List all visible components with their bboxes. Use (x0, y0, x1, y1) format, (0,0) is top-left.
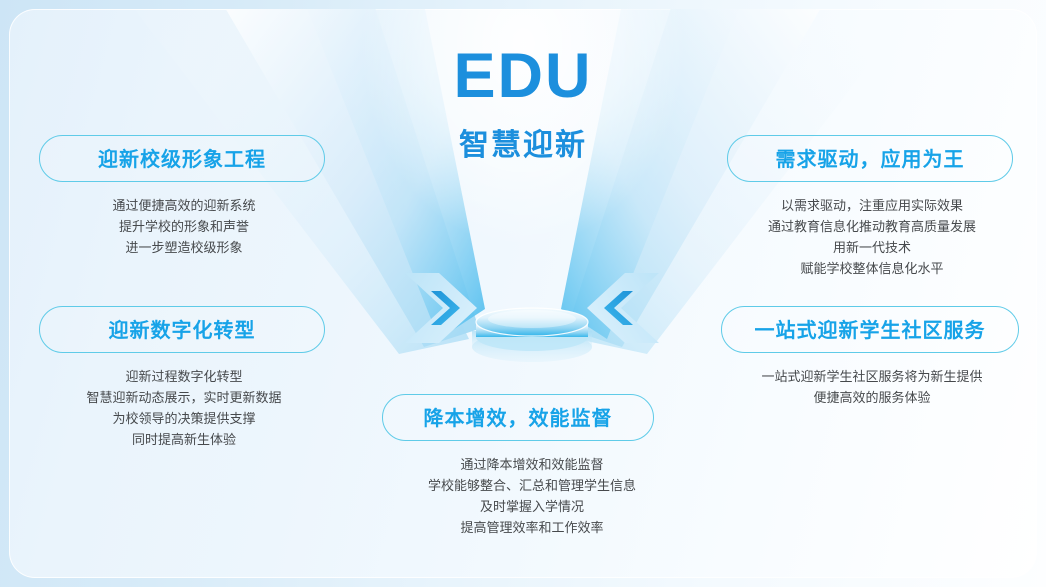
desc-demand-driven: 以需求驱动，注重应用实际效果 通过教育信息化推动教育高质量发展 用新一代技术 赋… (727, 195, 1017, 279)
desc-line: 为校领导的决策提供支撑 (39, 408, 329, 429)
pill-title-image-project[interactable]: 迎新校级形象工程 (39, 135, 325, 182)
desc-line: 便捷高效的服务体验 (721, 387, 1023, 408)
desc-line: 赋能学校整体信息化水平 (727, 258, 1017, 279)
block-digital-transform: 迎新数字化转型 迎新过程数字化转型 智慧迎新动态展示，实时更新数据 为校领导的决… (39, 306, 329, 450)
desc-line: 提高管理效率和工作效率 (382, 517, 682, 538)
desc-line: 以需求驱动，注重应用实际效果 (727, 195, 1017, 216)
desc-line: 智慧迎新动态展示，实时更新数据 (39, 387, 329, 408)
chevron-right-icon (405, 271, 479, 345)
desc-one-stop-service: 一站式迎新学生社区服务将为新生提供 便捷高效的服务体验 (721, 366, 1023, 408)
desc-cost-efficiency: 通过降本增效和效能监督 学校能够整合、汇总和管理学生信息 及时掌握入学情况 提高… (382, 454, 682, 538)
block-cost-efficiency: 降本增效，效能监督 通过降本增效和效能监督 学校能够整合、汇总和管理学生信息 及… (382, 394, 682, 538)
desc-image-project: 通过便捷高效的迎新系统 提升学校的形象和声誉 进一步塑造校级形象 (39, 195, 329, 258)
desc-line: 用新一代技术 (727, 237, 1017, 258)
infographic-frame: EDU 智慧迎新 (0, 0, 1046, 587)
desc-line: 及时掌握入学情况 (382, 496, 682, 517)
desc-line: 进一步塑造校级形象 (39, 237, 329, 258)
desc-line: 同时提高新生体验 (39, 429, 329, 450)
pill-title-digital-transform[interactable]: 迎新数字化转型 (39, 306, 325, 353)
desc-line: 一站式迎新学生社区服务将为新生提供 (721, 366, 1023, 387)
pill-title-demand-driven[interactable]: 需求驱动，应用为王 (727, 135, 1013, 182)
logo-title: EDU (9, 45, 1037, 108)
desc-line: 通过降本增效和效能监督 (382, 454, 682, 475)
pill-title-cost-efficiency[interactable]: 降本增效，效能监督 (382, 394, 654, 441)
infographic-card: EDU 智慧迎新 (9, 9, 1037, 578)
pill-title-one-stop-service[interactable]: 一站式迎新学生社区服务 (721, 306, 1019, 353)
desc-line: 通过便捷高效的迎新系统 (39, 195, 329, 216)
desc-line: 通过教育信息化推动教育高质量发展 (727, 216, 1017, 237)
glass-disc-platform (470, 305, 594, 367)
desc-line: 迎新过程数字化转型 (39, 366, 329, 387)
block-image-project: 迎新校级形象工程 通过便捷高效的迎新系统 提升学校的形象和声誉 进一步塑造校级形… (39, 135, 329, 258)
desc-line: 提升学校的形象和声誉 (39, 216, 329, 237)
desc-digital-transform: 迎新过程数字化转型 智慧迎新动态展示，实时更新数据 为校领导的决策提供支撑 同时… (39, 366, 329, 450)
chevron-left-icon (585, 271, 659, 345)
block-one-stop-service: 一站式迎新学生社区服务 一站式迎新学生社区服务将为新生提供 便捷高效的服务体验 (721, 306, 1023, 408)
desc-line: 学校能够整合、汇总和管理学生信息 (382, 475, 682, 496)
block-demand-driven: 需求驱动，应用为王 以需求驱动，注重应用实际效果 通过教育信息化推动教育高质量发… (727, 135, 1017, 279)
